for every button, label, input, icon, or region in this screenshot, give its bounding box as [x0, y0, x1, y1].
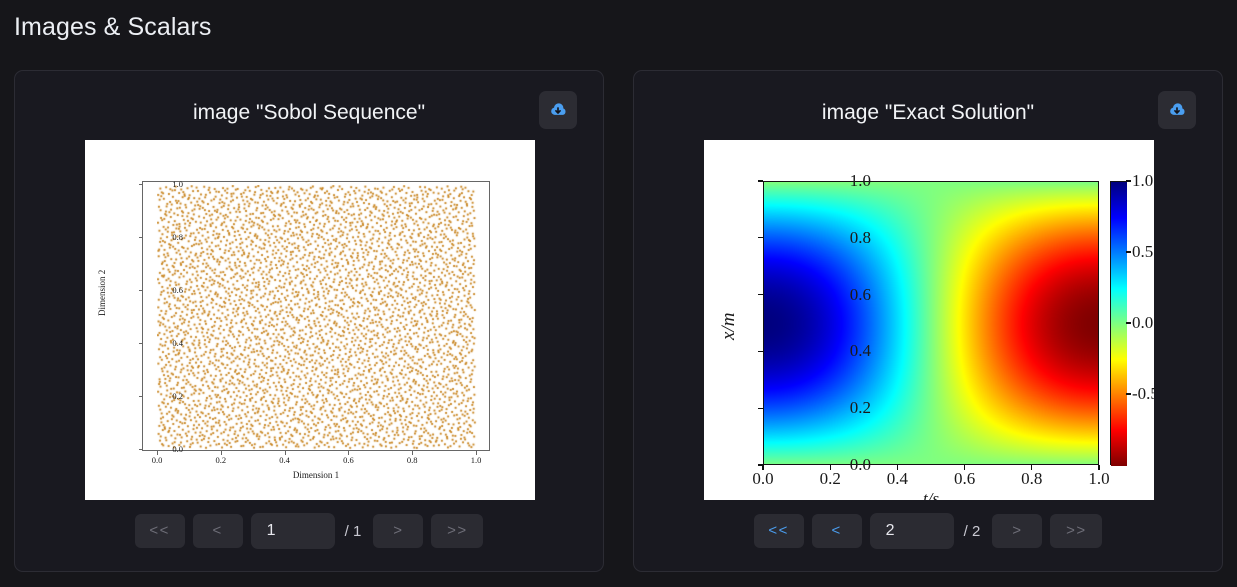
y-tick-label: 0.6	[172, 285, 183, 295]
x-tick-mark	[221, 451, 222, 455]
scatter-points	[157, 185, 477, 450]
x-tick-label: 0.6	[328, 455, 368, 465]
scatter-plot: Dimension 2 Dimension 1 0.00.20.40.60.81…	[85, 140, 535, 500]
y-tick-label: 0.4	[172, 338, 183, 348]
page-number-input[interactable]	[870, 513, 954, 549]
y-tick-label: 0.6	[850, 285, 871, 305]
y-tick-label: 0.2	[850, 398, 871, 418]
last-page-button[interactable]: >>	[431, 514, 483, 548]
total-pages-label: / 2	[964, 523, 981, 540]
colorbar-tick-mark	[1126, 393, 1131, 394]
y-tick-label: 1.0	[850, 171, 871, 191]
y-tick-label: 0.8	[850, 228, 871, 248]
plot-axes	[763, 181, 1099, 465]
x-tick-label: 0.8	[392, 455, 432, 465]
x-axis-label: Dimension 1	[142, 470, 490, 480]
x-tick-mark	[412, 451, 413, 455]
colorbar-tick-label: -0.5	[1132, 384, 1154, 404]
y-tick-label: 1.0	[172, 179, 183, 189]
x-tick-mark	[964, 465, 965, 470]
colorbar-tick-mark	[1126, 180, 1131, 181]
x-tick-label: 0.4	[867, 469, 927, 489]
x-tick-mark	[1098, 465, 1099, 470]
y-tick-label: 0.2	[172, 391, 183, 401]
y-axis-label: Dimension 2	[97, 270, 107, 316]
colorbar-tick-mark	[1126, 322, 1131, 323]
x-tick-mark	[762, 465, 763, 470]
image-card-sobol-sequence: image "Sobol Sequence" Dimension 2 Dimen…	[14, 70, 604, 572]
y-tick-label: 0.8	[172, 232, 183, 242]
previous-page-button[interactable]: <	[193, 514, 243, 548]
y-tick-label: 0.4	[850, 341, 871, 361]
x-axis-label: t/s	[763, 489, 1099, 500]
colorbar-tick-label: 0.5	[1132, 242, 1153, 262]
x-tick-label: 0.0	[733, 469, 793, 489]
colorbar-tick-label: 0.0	[1132, 313, 1153, 333]
total-pages-label: / 1	[345, 523, 362, 540]
y-tick-mark	[758, 180, 763, 181]
plot-image-exact-solution: x/m t/s 0.00.20.40.60.81.0 0.00.20.40.60…	[704, 140, 1154, 500]
y-tick-mark	[139, 343, 143, 344]
x-tick-mark	[1031, 465, 1032, 470]
x-tick-mark	[348, 451, 349, 455]
first-page-button[interactable]: <<	[135, 514, 185, 548]
x-tick-label: 0.8	[1002, 469, 1062, 489]
heatmap-image	[764, 182, 1099, 465]
y-tick-mark	[139, 396, 143, 397]
y-tick-mark	[139, 449, 143, 450]
x-tick-label: 0.4	[265, 455, 305, 465]
page-title: Images & Scalars	[14, 13, 212, 42]
x-tick-label: 0.6	[935, 469, 995, 489]
previous-page-button[interactable]: <	[812, 514, 862, 548]
x-tick-label: 0.2	[800, 469, 860, 489]
colorbar-tick-label: 1.0	[1132, 171, 1153, 191]
y-tick-mark	[139, 237, 143, 238]
first-page-button[interactable]: <<	[754, 514, 804, 548]
last-page-button[interactable]: >>	[1050, 514, 1102, 548]
y-tick-mark	[139, 290, 143, 291]
y-tick-mark	[139, 184, 143, 185]
y-tick-label: 0.0	[172, 444, 183, 454]
y-tick-mark	[758, 408, 763, 409]
y-tick-mark	[758, 294, 763, 295]
colorbar-gradient	[1111, 182, 1127, 466]
colorbar-tick-mark	[1126, 251, 1131, 252]
download-button[interactable]	[1158, 91, 1196, 129]
plot-image-sobol-sequence: Dimension 2 Dimension 1 0.00.20.40.60.81…	[85, 140, 535, 500]
download-button[interactable]	[539, 91, 577, 129]
pagination-controls: << < / 1 > >>	[15, 513, 603, 549]
y-tick-mark	[758, 237, 763, 238]
x-tick-mark	[157, 451, 158, 455]
x-tick-mark	[285, 451, 286, 455]
plot-axes	[142, 181, 490, 451]
cloud-download-icon	[1167, 100, 1187, 120]
x-tick-label: 1.0	[1069, 469, 1129, 489]
cloud-download-icon	[548, 100, 568, 120]
next-page-button[interactable]: >	[373, 514, 423, 548]
x-tick-mark	[476, 451, 477, 455]
next-page-button[interactable]: >	[992, 514, 1042, 548]
pagination-controls: << < / 2 > >>	[634, 513, 1222, 549]
colorbar	[1110, 181, 1126, 465]
x-tick-mark	[897, 465, 898, 470]
card-title: image "Exact Solution"	[634, 101, 1222, 125]
x-tick-label: 1.0	[456, 455, 496, 465]
page-number-input[interactable]	[251, 513, 335, 549]
x-tick-label: 0.2	[201, 455, 241, 465]
y-axis-label: x/m	[718, 313, 740, 340]
heatmap-plot: x/m t/s 0.00.20.40.60.81.0 0.00.20.40.60…	[704, 140, 1154, 500]
y-tick-mark	[758, 351, 763, 352]
images-and-scalars-page: Images & Scalars image "Sobol Sequence" …	[0, 0, 1237, 587]
x-tick-label: 0.0	[137, 455, 177, 465]
image-card-exact-solution: image "Exact Solution" x/m t/s 0.00.	[633, 70, 1223, 572]
x-tick-mark	[830, 465, 831, 470]
card-title: image "Sobol Sequence"	[15, 101, 603, 125]
